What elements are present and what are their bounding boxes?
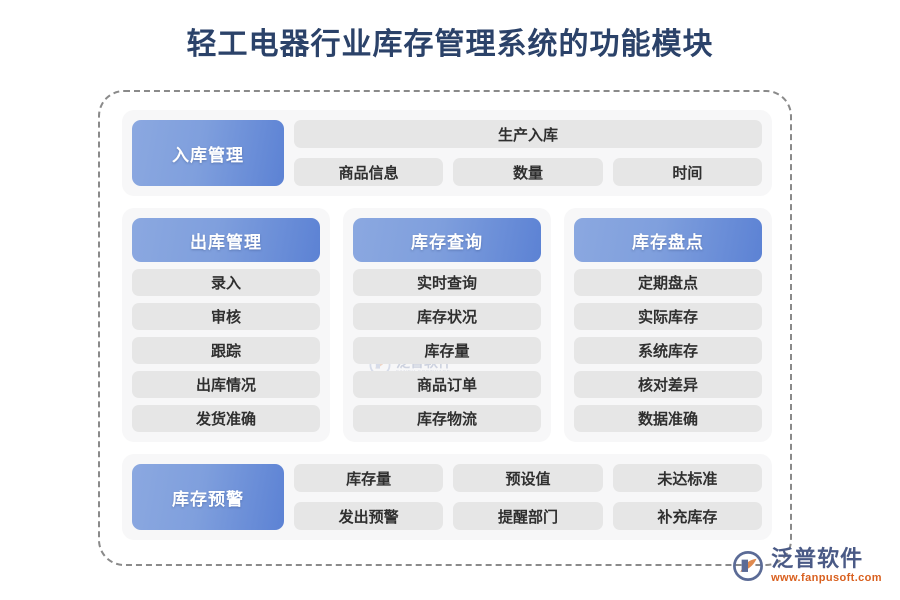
brand-url: www.fanpusoft.com: [771, 573, 882, 584]
module-button-outbound[interactable]: 出库管理: [132, 218, 320, 262]
sub-item-outbound-track[interactable]: 跟踪: [132, 337, 320, 364]
sub-item-check-difference[interactable]: 核对差异: [574, 371, 762, 398]
fanpu-logo-icon: [731, 549, 765, 583]
sub-item-outbound-status[interactable]: 出库情况: [132, 371, 320, 398]
inbound-row-bottom: 商品信息 数量 时间: [294, 158, 762, 186]
section-columns: 出库管理 录入 审核 跟踪 出库情况 发货准确 库存查询 实时查询 库存状况 库…: [122, 208, 772, 442]
sub-item-alert-below-standard[interactable]: 未达标准: [613, 464, 762, 492]
sub-item-alert-replenish-stock[interactable]: 补充库存: [613, 502, 762, 530]
brand-logo-texts: 泛普软件 www.fanpusoft.com: [771, 548, 882, 584]
alert-items-grid: 库存量 预设值 未达标准 发出预警 提醒部门 补充库存: [294, 464, 762, 530]
sub-item-periodic-count[interactable]: 定期盘点: [574, 269, 762, 296]
sub-item-time[interactable]: 时间: [613, 158, 762, 186]
sub-item-alert-notify-department[interactable]: 提醒部门: [453, 502, 602, 530]
sub-item-alert-inventory-amount[interactable]: 库存量: [294, 464, 443, 492]
page-title: 轻工电器行业库存管理系统的功能模块: [0, 0, 900, 64]
sub-item-production-inbound[interactable]: 生产入库: [294, 120, 762, 148]
sub-item-actual-inventory[interactable]: 实际库存: [574, 303, 762, 330]
modules-container: 入库管理 生产入库 商品信息 数量 时间 出库管理 录入 审核 跟踪 出库情况 …: [122, 110, 772, 540]
module-button-inventory-query[interactable]: 库存查询: [353, 218, 541, 262]
sub-item-quantity[interactable]: 数量: [453, 158, 602, 186]
section-inbound: 入库管理 生产入库 商品信息 数量 时间: [122, 110, 772, 196]
column-outbound: 出库管理 录入 审核 跟踪 出库情况 发货准确: [122, 208, 330, 442]
inbound-row-top: 生产入库: [294, 120, 762, 148]
sub-item-alert-preset-value[interactable]: 预设值: [453, 464, 602, 492]
sub-item-outbound-delivery-accuracy[interactable]: 发货准确: [132, 405, 320, 432]
sub-item-system-inventory[interactable]: 系统库存: [574, 337, 762, 364]
sub-item-alert-issue-warning[interactable]: 发出预警: [294, 502, 443, 530]
brand-name: 泛普软件: [771, 548, 863, 570]
sub-item-realtime-query[interactable]: 实时查询: [353, 269, 541, 296]
sub-item-product-order[interactable]: 商品订单: [353, 371, 541, 398]
column-inventory-query: 库存查询 实时查询 库存状况 库存量 商品订单 库存物流: [343, 208, 551, 442]
module-button-inventory-alert[interactable]: 库存预警: [132, 464, 284, 530]
sub-item-data-accuracy[interactable]: 数据准确: [574, 405, 762, 432]
inbound-items-group: 生产入库 商品信息 数量 时间: [294, 120, 762, 186]
sub-item-product-info[interactable]: 商品信息: [294, 158, 443, 186]
sub-item-outbound-review[interactable]: 审核: [132, 303, 320, 330]
sub-item-inventory-logistics[interactable]: 库存物流: [353, 405, 541, 432]
sub-item-inventory-amount[interactable]: 库存量: [353, 337, 541, 364]
sub-item-outbound-entry[interactable]: 录入: [132, 269, 320, 296]
sub-item-inventory-status[interactable]: 库存状况: [353, 303, 541, 330]
column-inventory-count: 库存盘点 定期盘点 实际库存 系统库存 核对差异 数据准确: [564, 208, 772, 442]
module-button-inventory-count[interactable]: 库存盘点: [574, 218, 762, 262]
section-alert: 库存预警 库存量 预设值 未达标准 发出预警 提醒部门 补充库存: [122, 454, 772, 540]
module-button-inbound[interactable]: 入库管理: [132, 120, 284, 186]
brand-logo: 泛普软件 www.fanpusoft.com: [731, 548, 882, 584]
